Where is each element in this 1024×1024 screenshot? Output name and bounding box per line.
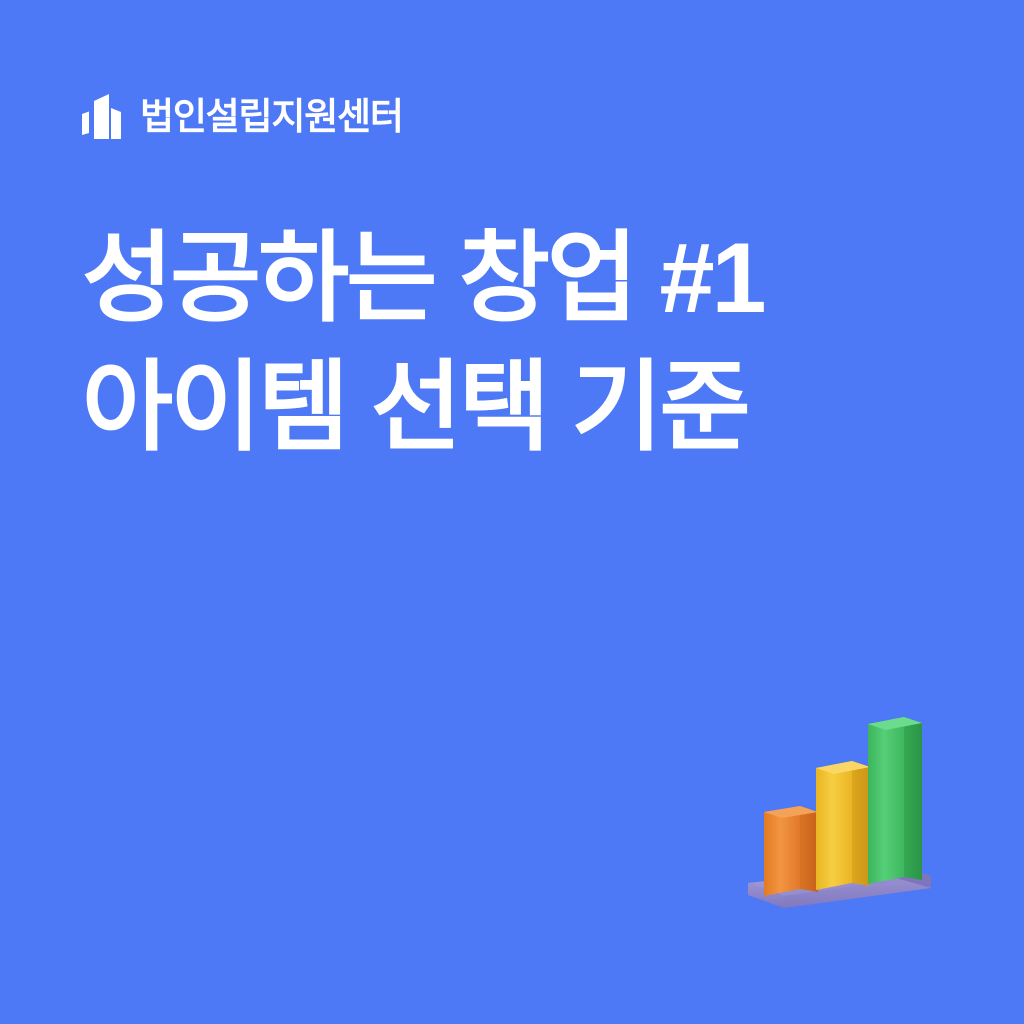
headline-block: 성공하는 창업 #1 아이템 선택 기준 xyxy=(82,214,912,471)
chart-bar-1 xyxy=(764,806,818,896)
headline-line-2: 아이템 선택 기준 xyxy=(82,343,912,472)
chart-bar-3 xyxy=(868,717,922,884)
poster-canvas: 법인설립지원센터 성공하는 창업 #1 아이템 선택 기준 xyxy=(0,0,1024,1024)
brand-name: 법인설립지원센터 xyxy=(140,98,403,135)
chart-bar-2 xyxy=(816,761,870,890)
headline-line-1: 성공하는 창업 #1 xyxy=(82,214,912,343)
bar-chart-3d-illustration xyxy=(726,700,936,915)
buildings-bar-icon xyxy=(82,92,126,140)
brand-logo[interactable]: 법인설립지원센터 xyxy=(82,92,403,140)
